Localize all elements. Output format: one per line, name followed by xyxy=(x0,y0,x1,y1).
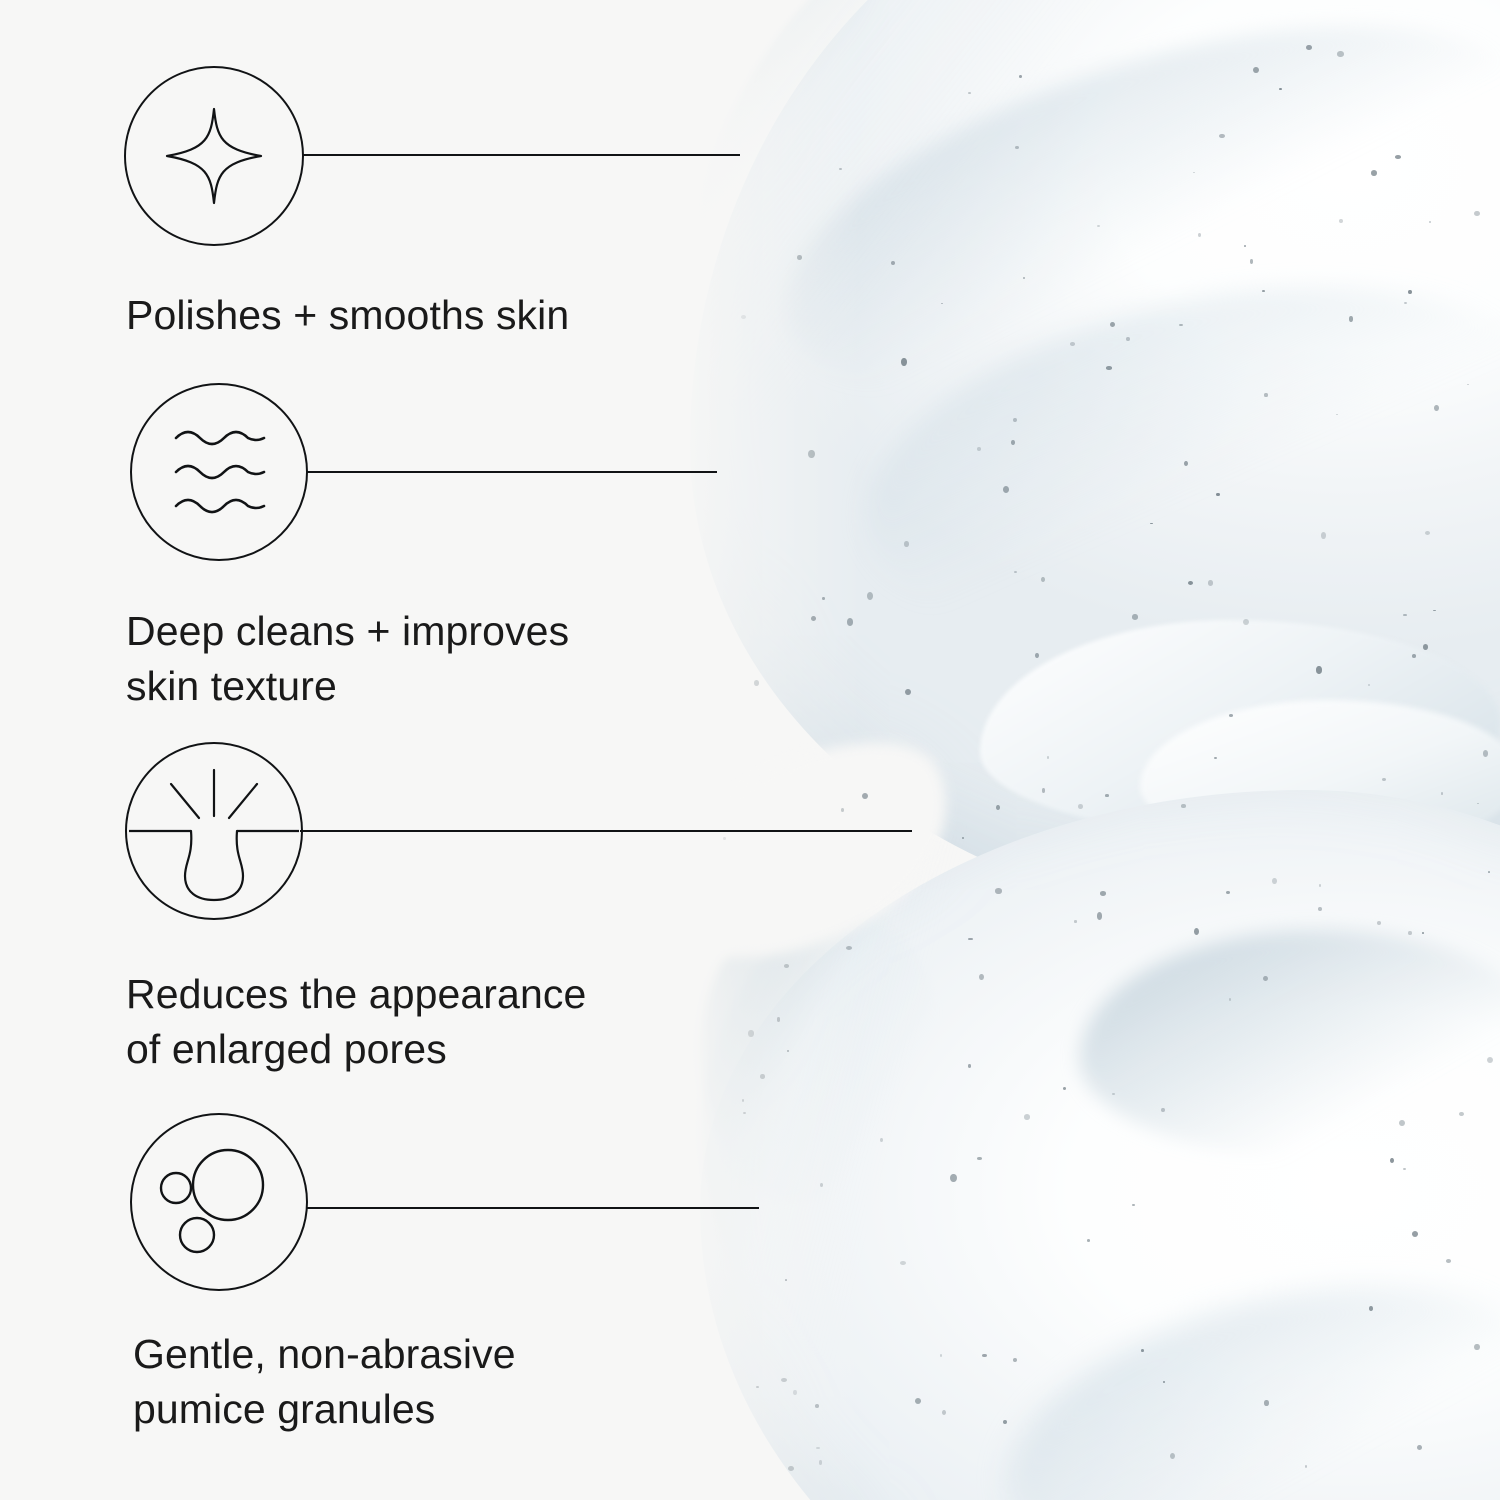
granules-icon xyxy=(150,1140,290,1270)
leader-line-pores xyxy=(300,830,912,832)
feature-label-deep-clean: Deep cleans + improves skin texture xyxy=(126,604,746,713)
pore-icon xyxy=(127,744,301,918)
photo-left-fade xyxy=(600,0,860,1500)
sparkle-icon xyxy=(159,101,269,211)
wavy-lines-icon xyxy=(170,420,270,525)
feature-label-pores: Reduces the appearance of enlarged pores xyxy=(126,967,766,1076)
feature-label-granules: Gentle, non-abrasive pumice granules xyxy=(133,1327,773,1436)
leader-line-deep-clean xyxy=(307,471,717,473)
infographic-canvas: Polishes + smooths skin Deep cleans + im… xyxy=(0,0,1500,1500)
leader-line-polish xyxy=(303,154,740,156)
feature-label-polish: Polishes + smooths skin xyxy=(126,288,746,343)
leader-line-granules xyxy=(307,1207,759,1209)
